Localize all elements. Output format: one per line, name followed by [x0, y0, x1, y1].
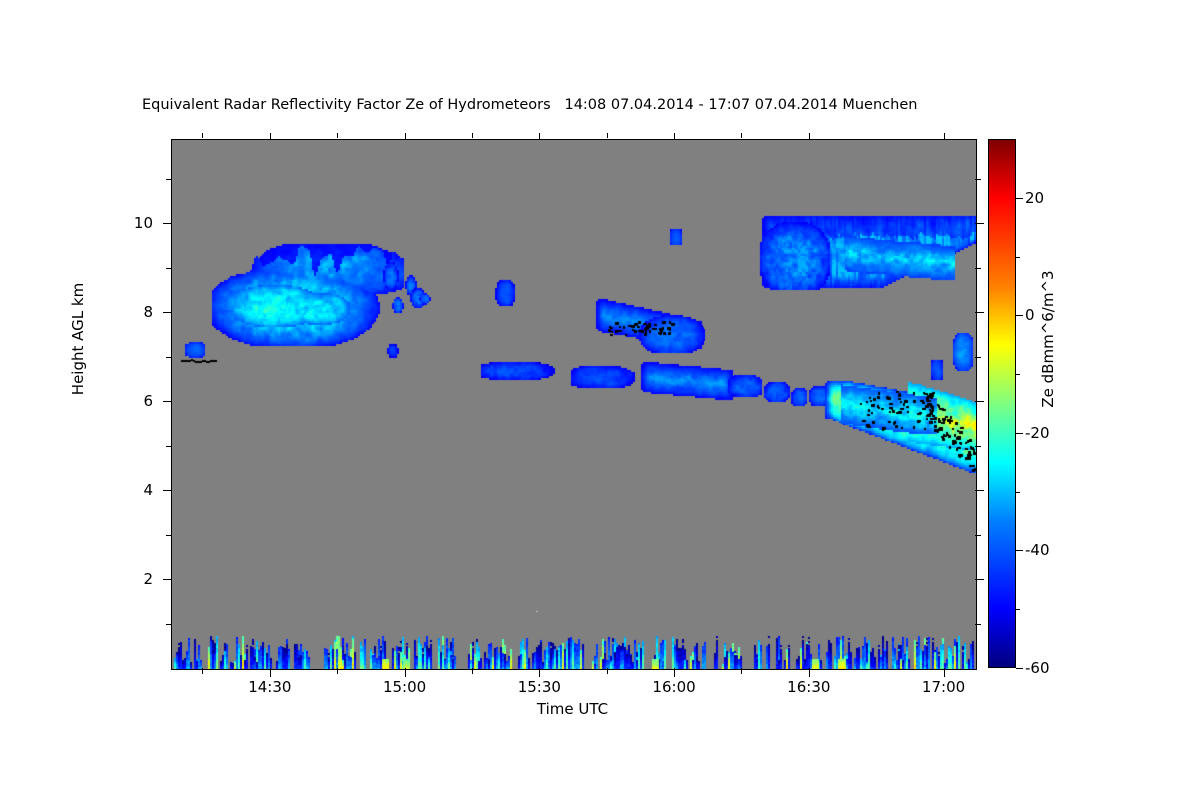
y-tick-right: [975, 401, 984, 402]
y-tick-minor-right: [975, 624, 981, 625]
x-tick-minor: [607, 668, 608, 674]
y-tick-label: 10: [103, 214, 153, 232]
y-tick-right: [975, 223, 984, 224]
x-tick-top: [674, 133, 675, 140]
x-tick-top: [270, 133, 271, 140]
x-tick-minor: [472, 668, 473, 674]
y-tick-label: 8: [103, 303, 153, 321]
y-tick-minor: [166, 535, 172, 536]
colorbar-tick-label: -40: [1025, 541, 1050, 559]
reflectivity-heatmap-canvas: [172, 140, 976, 669]
colorbar-tick-minor: [1016, 257, 1020, 258]
x-tick-minor-top: [607, 133, 608, 138]
x-tick: [674, 668, 675, 677]
x-tick-top: [944, 133, 945, 140]
x-tick-minor-top: [472, 133, 473, 138]
y-tick-right: [975, 312, 984, 313]
x-tick-minor-top: [337, 133, 338, 138]
chart-title: Equivalent Radar Reflectivity Factor Ze …: [142, 97, 917, 113]
x-axis-label: Time UTC: [0, 700, 1145, 718]
y-tick-minor-right: [975, 446, 981, 447]
y-tick-minor: [166, 179, 172, 180]
y-tick-minor-right: [975, 179, 981, 180]
colorbar-tick-label: 20: [1025, 189, 1044, 207]
y-tick-label: 6: [103, 392, 153, 410]
colorbar-tick-minor: [1016, 609, 1020, 610]
y-tick-minor-right: [975, 535, 981, 536]
colorbar-tick: [1016, 668, 1023, 669]
x-tick-label: 14:30: [230, 678, 310, 696]
plot-area: [171, 139, 977, 670]
x-tick-top: [809, 133, 810, 140]
x-tick-minor: [741, 668, 742, 674]
y-tick: [163, 579, 172, 580]
colorbar-tick: [1016, 433, 1023, 434]
colorbar-tick-minor: [1016, 492, 1020, 493]
x-tick-minor-top: [741, 133, 742, 138]
x-tick-label: 15:30: [499, 678, 579, 696]
colorbar-tick: [1016, 550, 1023, 551]
y-tick-minor: [166, 446, 172, 447]
colorbar-gradient: [988, 139, 1016, 668]
colorbar-tick: [1016, 315, 1023, 316]
colorbar-tick-label: -20: [1025, 424, 1050, 442]
colorbar-tick-label: -60: [1025, 659, 1050, 677]
y-tick-right: [975, 579, 984, 580]
x-tick-top: [405, 133, 406, 140]
x-tick: [944, 668, 945, 677]
y-tick: [163, 401, 172, 402]
x-tick-minor-top: [202, 133, 203, 138]
x-tick: [809, 668, 810, 677]
y-tick-minor-right: [975, 268, 981, 269]
x-tick-label: 16:00: [634, 678, 714, 696]
x-tick: [270, 668, 271, 677]
y-tick: [163, 223, 172, 224]
y-tick-minor: [166, 357, 172, 358]
y-tick-minor: [166, 624, 172, 625]
x-tick-label: 16:30: [769, 678, 849, 696]
colorbar-tick: [1016, 198, 1023, 199]
y-tick-label: 4: [103, 481, 153, 499]
y-tick: [163, 490, 172, 491]
y-tick-minor: [166, 268, 172, 269]
x-tick: [539, 668, 540, 677]
colorbar-tick-label: 0: [1025, 306, 1035, 324]
colorbar: [988, 139, 1016, 668]
x-tick-minor: [337, 668, 338, 674]
colorbar-tick-minor: [1016, 374, 1020, 375]
x-tick-label: 17:00: [904, 678, 984, 696]
y-tick-minor-right: [975, 357, 981, 358]
x-tick-label: 15:00: [365, 678, 445, 696]
y-tick-right: [975, 490, 984, 491]
y-tick-label: 2: [103, 570, 153, 588]
y-axis-label: Height AGL km: [69, 209, 87, 469]
radar-reflectivity-figure: Equivalent Radar Reflectivity Factor Ze …: [0, 0, 1200, 800]
x-tick-top: [539, 133, 540, 140]
x-tick: [405, 668, 406, 677]
y-tick: [163, 312, 172, 313]
x-tick-minor: [202, 668, 203, 674]
